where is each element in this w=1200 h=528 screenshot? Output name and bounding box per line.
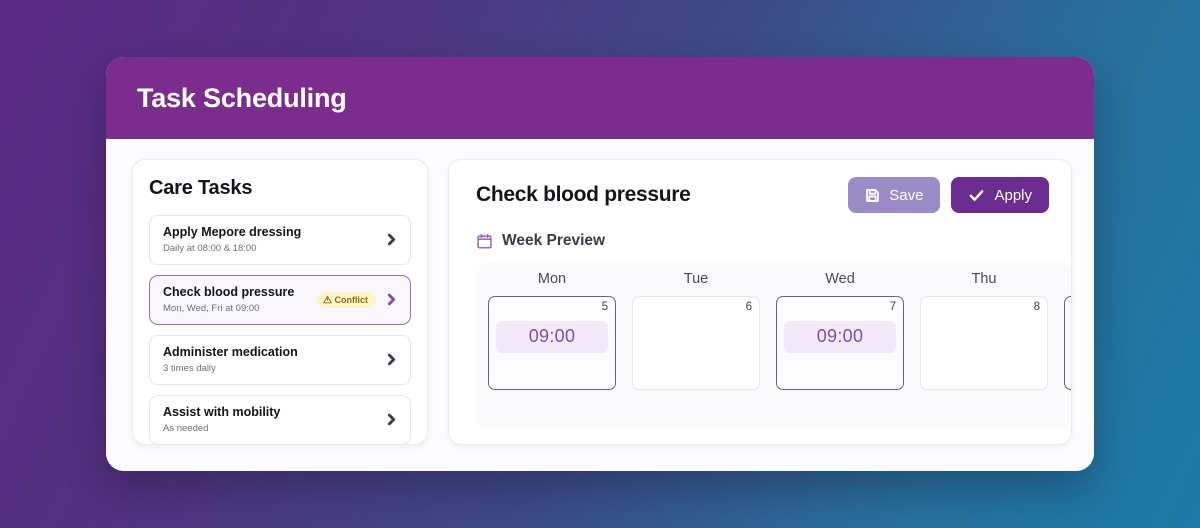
care-tasks-heading: Care Tasks — [149, 177, 411, 200]
day-column-wed: Wed 7 09:00 — [776, 271, 904, 390]
event-time-pill[interactable]: 09:00 — [784, 321, 896, 353]
task-item-text: Check blood pressure Mon, Wed, Fri at 09… — [163, 285, 317, 314]
task-item-name: Administer medication — [163, 345, 385, 361]
day-date-number: 7 — [784, 302, 896, 314]
event-time-pill[interactable]: 09:00 — [496, 321, 608, 353]
week-grid: Mon 5 09:00 Tue 6 Wed — [476, 271, 1071, 390]
conflict-badge: Conflict — [317, 292, 377, 308]
apply-button-label: Apply — [994, 187, 1032, 204]
detail-title: Check blood pressure — [476, 183, 848, 207]
chevron-right-icon — [385, 233, 398, 246]
apply-button[interactable]: Apply — [951, 177, 1049, 213]
day-cell[interactable]: 6 — [632, 296, 760, 390]
day-header-label: Wed — [776, 271, 904, 287]
app-body: Care Tasks Apply Mepore dressing Daily a… — [106, 139, 1094, 471]
task-item-name: Assist with mobility — [163, 405, 385, 421]
week-preview-header: Week Preview — [449, 232, 1071, 250]
task-item-schedule: Daily at 08:00 & 18:00 — [163, 243, 385, 254]
save-button-label: Save — [889, 187, 923, 204]
calendar-icon — [476, 233, 493, 250]
chevron-right-icon — [385, 413, 398, 426]
checkmark-icon — [968, 187, 985, 204]
task-item-schedule: Mon, Wed, Fri at 09:00 — [163, 303, 317, 314]
task-item-name: Check blood pressure — [163, 285, 317, 301]
task-item-schedule: 3 times daily — [163, 363, 385, 374]
week-preview-label: Week Preview — [502, 232, 605, 250]
day-cell[interactable]: 8 — [920, 296, 1048, 390]
day-header-label: Fri — [1064, 271, 1071, 287]
day-cell[interactable]: 5 09:00 — [488, 296, 616, 390]
day-column-tue: Tue 6 — [632, 271, 760, 390]
conflict-badge-label: Conflict — [335, 295, 369, 305]
chevron-right-icon — [385, 293, 398, 306]
task-item-schedule: As needed — [163, 423, 385, 434]
week-grid-container: Mon 5 09:00 Tue 6 Wed — [476, 263, 1071, 428]
day-date-number: 8 — [928, 302, 1040, 314]
task-list: Apply Mepore dressing Daily at 08:00 & 1… — [149, 215, 411, 445]
task-item-text: Administer medication 3 times daily — [163, 345, 385, 374]
day-date-number: 5 — [496, 302, 608, 314]
task-list-item-selected[interactable]: Check blood pressure Mon, Wed, Fri at 09… — [149, 275, 411, 325]
task-item-text: Assist with mobility As needed — [163, 405, 385, 434]
task-list-item[interactable]: Administer medication 3 times daily — [149, 335, 411, 385]
detail-header: Check blood pressure Save Apply — [449, 177, 1071, 213]
save-button[interactable]: Save — [848, 177, 940, 213]
floppy-disk-icon — [865, 188, 880, 203]
day-header-label: Mon — [488, 271, 616, 287]
day-column-mon: Mon 5 09:00 — [488, 271, 616, 390]
care-tasks-panel: Care Tasks Apply Mepore dressing Daily a… — [132, 159, 428, 445]
day-header-label: Tue — [632, 271, 760, 287]
title-bar: Task Scheduling — [106, 57, 1094, 139]
task-list-item[interactable]: Assist with mobility As needed — [149, 395, 411, 445]
day-column-thu: Thu 8 — [920, 271, 1048, 390]
warning-triangle-icon — [323, 295, 332, 304]
day-cell[interactable]: 7 09:00 — [776, 296, 904, 390]
task-item-text: Apply Mepore dressing Daily at 08:00 & 1… — [163, 225, 385, 254]
chevron-right-icon — [385, 353, 398, 366]
task-item-name: Apply Mepore dressing — [163, 225, 385, 241]
day-date-number: 6 — [640, 302, 752, 314]
day-header-label: Thu — [920, 271, 1048, 287]
page-title: Task Scheduling — [137, 83, 347, 114]
app-window: Task Scheduling Care Tasks Apply Mepore … — [106, 57, 1094, 471]
day-column-fri: Fri 9 09:00 — [1064, 271, 1071, 390]
task-detail-panel: Check blood pressure Save Apply — [448, 159, 1072, 445]
day-cell[interactable]: 9 09:00 — [1064, 296, 1071, 390]
task-list-item[interactable]: Apply Mepore dressing Daily at 08:00 & 1… — [149, 215, 411, 265]
